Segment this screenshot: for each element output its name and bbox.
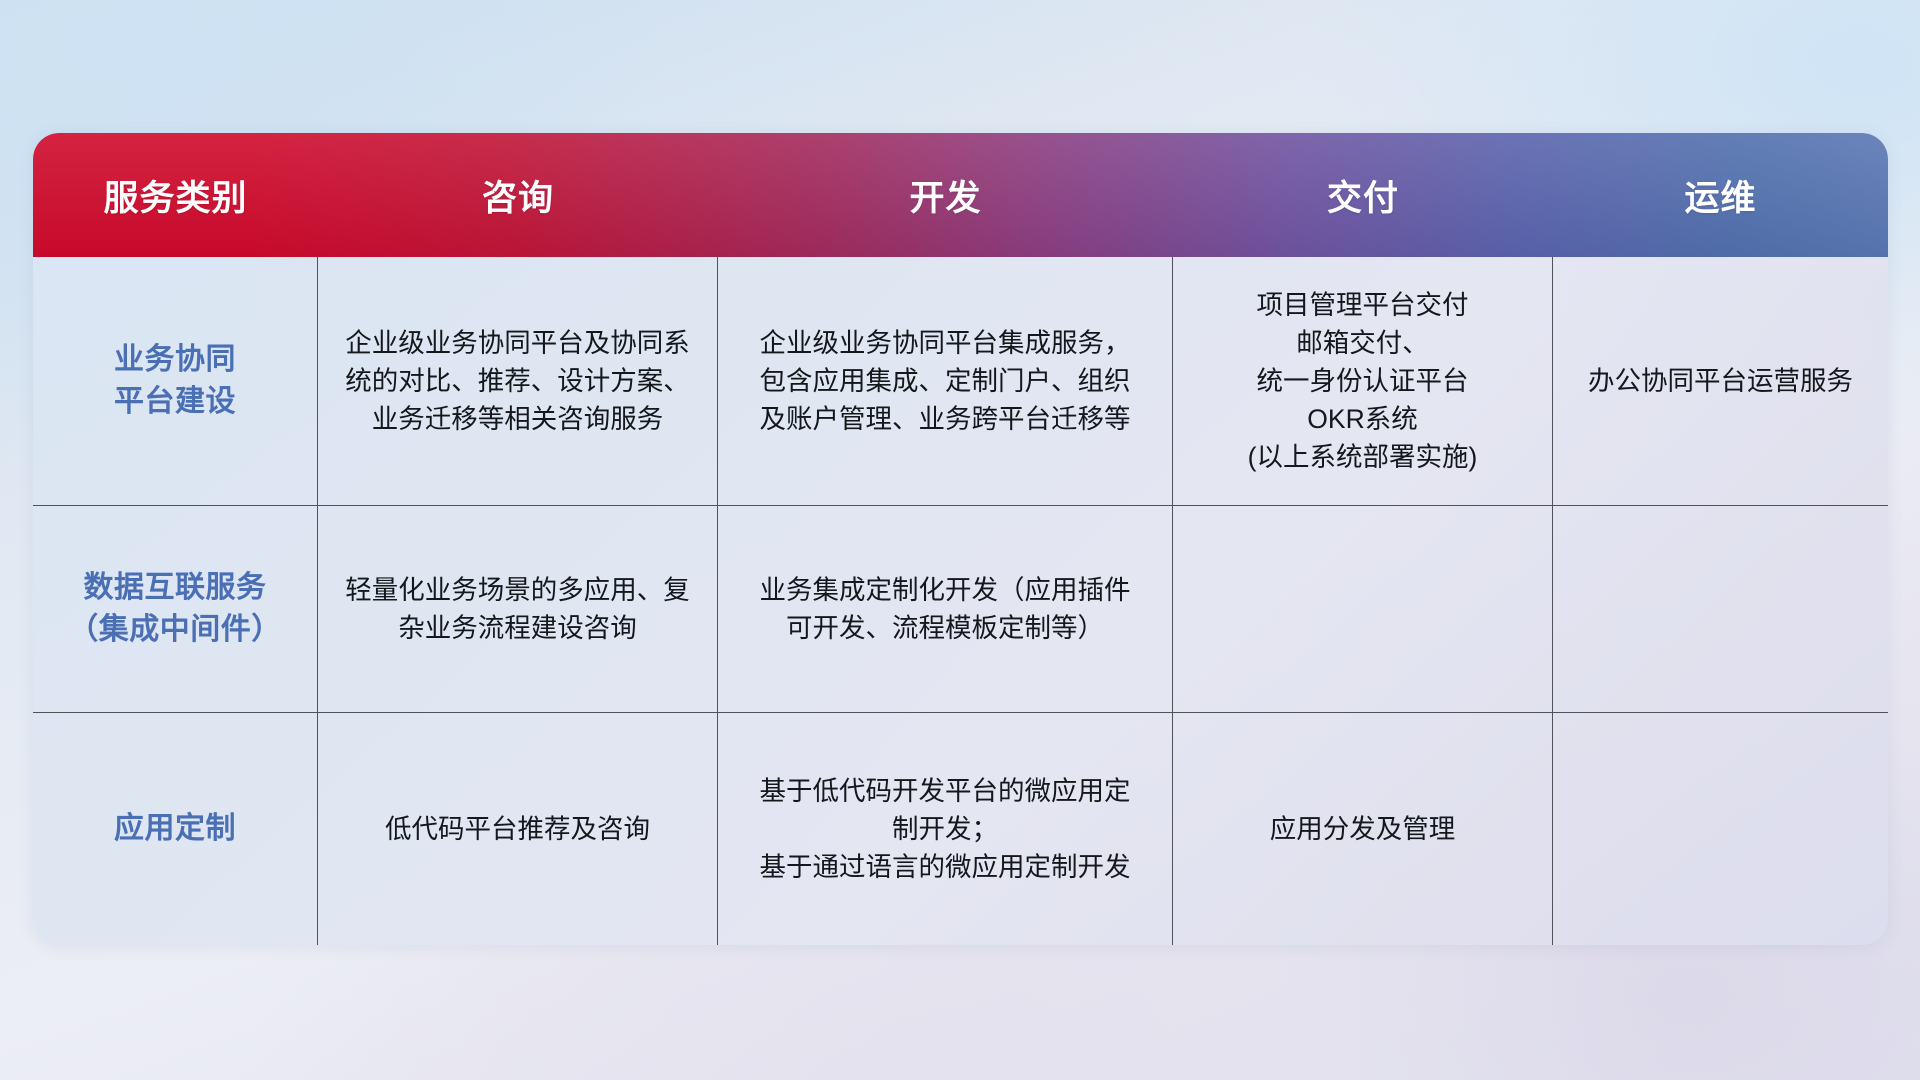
table-body: 业务协同 平台建设 企业级业务协同平台及协同系 统的对比、推荐、设计方案、 业务… [33, 257, 1888, 945]
column-header-delivery: 交付 [1173, 133, 1553, 257]
cell-delivery: 应用分发及管理 [1173, 713, 1553, 945]
service-matrix-table: 服务类别 咨询 开发 交付 运维 业务协同 平台建设 企业级业务协同平台及协同系… [33, 133, 1888, 945]
table-header-row: 服务类别 咨询 开发 交付 运维 [33, 133, 1888, 257]
cell-operations: 办公协同平台运营服务 [1553, 257, 1888, 505]
cell-consulting: 低代码平台推荐及咨询 [318, 713, 718, 945]
row-category-label: 应用定制 [33, 713, 318, 945]
table-row: 业务协同 平台建设 企业级业务协同平台及协同系 统的对比、推荐、设计方案、 业务… [33, 257, 1888, 505]
table-row: 数据互联服务 （集成中间件） 轻量化业务场景的多应用、复 杂业务流程建设咨询 业… [33, 505, 1888, 712]
cell-development: 业务集成定制化开发（应用插件 可开发、流程模板定制等） [718, 506, 1173, 712]
column-header-operations: 运维 [1553, 133, 1888, 257]
cell-operations [1553, 506, 1888, 712]
slide-canvas: 服务类别 咨询 开发 交付 运维 业务协同 平台建设 企业级业务协同平台及协同系… [0, 0, 1920, 1080]
cell-development: 基于低代码开发平台的微应用定 制开发； 基于通过语言的微应用定制开发 [718, 713, 1173, 945]
row-category-label: 业务协同 平台建设 [33, 257, 318, 505]
cell-development: 企业级业务协同平台集成服务， 包含应用集成、定制门户、组织 及账户管理、业务跨平… [718, 257, 1173, 505]
column-header-category: 服务类别 [33, 133, 318, 257]
cell-operations [1553, 713, 1888, 945]
cell-delivery: 项目管理平台交付 邮箱交付、 统一身份认证平台 OKR系统 (以上系统部署实施) [1173, 257, 1553, 505]
cell-consulting: 企业级业务协同平台及协同系 统的对比、推荐、设计方案、 业务迁移等相关咨询服务 [318, 257, 718, 505]
column-header-consulting: 咨询 [318, 133, 718, 257]
table-row: 应用定制 低代码平台推荐及咨询 基于低代码开发平台的微应用定 制开发； 基于通过… [33, 712, 1888, 945]
row-category-label: 数据互联服务 （集成中间件） [33, 506, 318, 712]
cell-delivery [1173, 506, 1553, 712]
cell-consulting: 轻量化业务场景的多应用、复 杂业务流程建设咨询 [318, 506, 718, 712]
column-header-development: 开发 [718, 133, 1173, 257]
